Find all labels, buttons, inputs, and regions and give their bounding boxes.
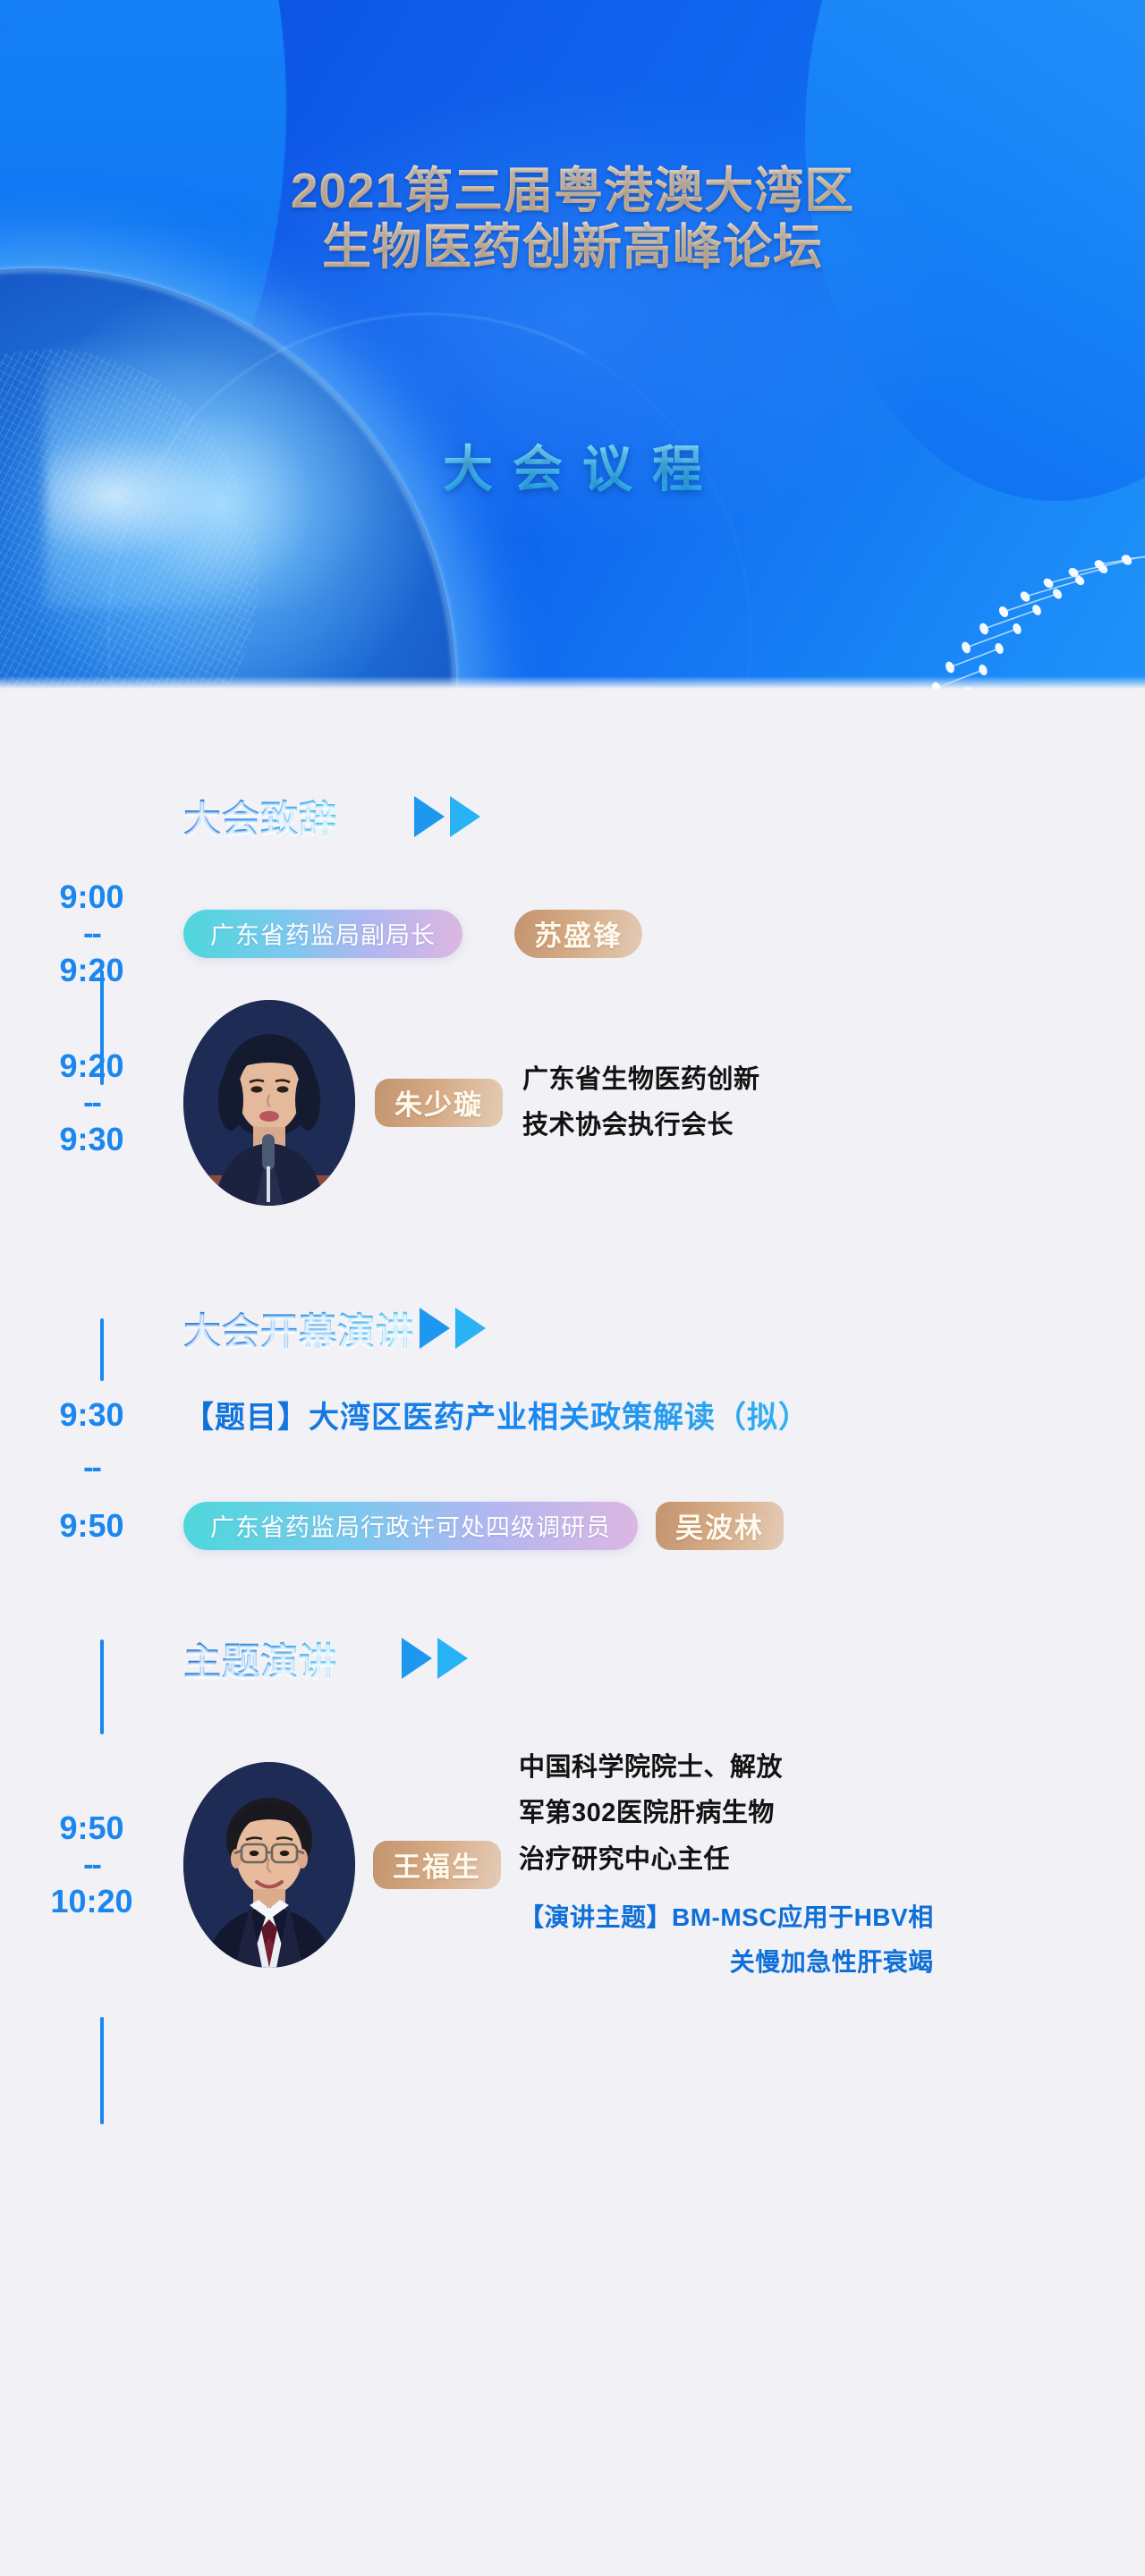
row-body: 朱少璇 广东省生物医药创新 技术协会执行会长 [183, 1000, 760, 1206]
hero-title-line-1: 2021第三届粤港澳大湾区 [0, 163, 1145, 219]
time-dash: -- [83, 1093, 100, 1114]
time-end: 10:20 [50, 1885, 132, 1918]
agenda-row-wang-fusheng: 9:50 -- 10:20 [0, 1722, 1145, 2008]
agenda-list: 大会致辞 9:00 -- 9:20 广东省药监局副局长 苏盛锋 [0, 789, 1145, 2080]
time-dash: -- [83, 924, 100, 945]
time-start: 9:20 [59, 1050, 123, 1082]
timeline-connector [100, 1318, 104, 1381]
hero-title-line-2: 生物医药创新高峰论坛 [0, 219, 1145, 275]
section-header-theme-speech: 主题演讲 [183, 1631, 1145, 1686]
table-row: 9:50 -- 10:20 [0, 1722, 1145, 2008]
time-start: 9:50 [59, 1812, 123, 1844]
time-dash: -- [0, 1458, 183, 1479]
time-column: -- [0, 1447, 183, 1488]
agenda-row-wu-bolin: 9:30 【题目】大湾区医药产业相关政策解读（拟） -- 9:50 广东省药监局… [0, 1388, 1145, 1553]
desc-line-1: 中国科学院院士、解放 [519, 1750, 934, 1785]
table-row: 9:00 -- 9:20 广东省药监局副局长 苏盛锋 [0, 881, 1145, 987]
row-body: 广东省药监局行政许可处四级调研员 吴波林 [183, 1502, 784, 1550]
section-header-opening-remarks: 大会致辞 [183, 789, 1145, 843]
double-right-arrow-icon [414, 796, 480, 837]
table-row: 9:20 -- 9:30 [0, 987, 1145, 1219]
table-row: 9:30 【题目】大湾区医药产业相关政策解读（拟） [0, 1388, 1145, 1442]
desc-line-2: 军第302医院肝病生物 [519, 1796, 934, 1831]
arrow-triangle-1-icon [414, 796, 445, 837]
table-row: 9:50 广东省药监局行政许可处四级调研员 吴波林 [0, 1499, 1145, 1553]
arrow-triangle-2-icon [437, 1638, 468, 1679]
role-badge: 广东省药监局副局长 [183, 910, 462, 958]
role-badge: 广东省药监局行政许可处四级调研员 [183, 1502, 638, 1550]
time-column: 9:50 -- 10:20 [0, 1812, 183, 1918]
double-right-arrow-icon [420, 1308, 486, 1349]
speaker-name-badge: 吴波林 [656, 1502, 784, 1550]
arrow-triangle-2-icon [450, 796, 480, 837]
dna-helix-icon [886, 483, 1145, 689]
section-title: 主题演讲 [183, 1631, 337, 1686]
avatar [183, 1762, 355, 1968]
row-body: 【题目】大湾区医药产业相关政策解读（拟） [183, 1393, 810, 1436]
timeline-connector-bottom [100, 2017, 104, 2124]
row-body: 王福生 中国科学院院士、解放 军第302医院肝病生物 治疗研究中心主任 【演讲主… [183, 1750, 934, 1979]
arrow-triangle-2-icon [455, 1308, 486, 1349]
session-title: 【题目】大湾区医药产业相关政策解读（拟） [183, 1393, 810, 1436]
agenda-row-su-shengfeng: 9:00 -- 9:20 广东省药监局副局长 苏盛锋 [0, 881, 1145, 987]
agenda-row-zhu-shaoxuan: 9:20 -- 9:30 [0, 987, 1145, 1219]
topic-line-2: 关慢加急性肝衰竭 [519, 1945, 934, 1979]
section-title: 大会致辞 [183, 789, 337, 843]
time-end: 9:20 [59, 954, 123, 987]
speaker-description: 广东省生物医药创新 技术协会执行会长 [522, 1063, 760, 1143]
speaker-name-badge: 王福生 [373, 1841, 501, 1889]
time-column: 9:20 -- 9:30 [0, 1050, 183, 1156]
time-start: 9:30 [0, 1399, 183, 1431]
desc-line-2: 技术协会执行会长 [522, 1108, 760, 1143]
hero-title-group: 2021第三届粤港澳大湾区 生物医药创新高峰论坛 [0, 163, 1145, 276]
speaker-description: 中国科学院院士、解放 军第302医院肝病生物 治疗研究中心主任 【演讲主题】BM… [519, 1750, 934, 1979]
time-start: 9:00 [59, 881, 123, 913]
time-column: 9:30 [0, 1399, 183, 1431]
desc-line-1: 广东省生物医药创新 [522, 1063, 760, 1097]
row-body: 广东省药监局副局长 苏盛锋 [183, 910, 642, 958]
time-dash: -- [83, 1855, 100, 1877]
time-column: 9:00 -- 9:20 [0, 881, 183, 987]
time-end: 9:50 [0, 1510, 183, 1542]
double-right-arrow-icon [402, 1638, 468, 1679]
hero-subtitle: 大会议程 [0, 429, 1145, 502]
desc-line-3: 治疗研究中心主任 [519, 1843, 934, 1877]
timeline-connector [100, 1640, 104, 1734]
speaker-name-badge: 朱少璇 [375, 1079, 503, 1127]
arrow-triangle-1-icon [402, 1638, 432, 1679]
arrow-triangle-1-icon [420, 1308, 450, 1349]
time-column: 9:50 [0, 1510, 183, 1542]
section-header-opening-keynote: 大会开幕演讲 [183, 1301, 1145, 1356]
hero-banner: 2021第三届粤港澳大湾区 生物医药创新高峰论坛 大会议程 [0, 0, 1145, 689]
speaker-name-badge: 苏盛锋 [514, 910, 642, 958]
table-row-dash: -- [0, 1442, 1145, 1494]
topic-line-1: 【演讲主题】BM-MSC应用于HBV相 [519, 1901, 934, 1935]
avatar [183, 1000, 355, 1206]
section-title: 大会开幕演讲 [183, 1301, 414, 1356]
agenda-poster: 2021第三届粤港澳大湾区 生物医药创新高峰论坛 大会议程 [0, 0, 1145, 2576]
time-end: 9:30 [59, 1123, 123, 1156]
